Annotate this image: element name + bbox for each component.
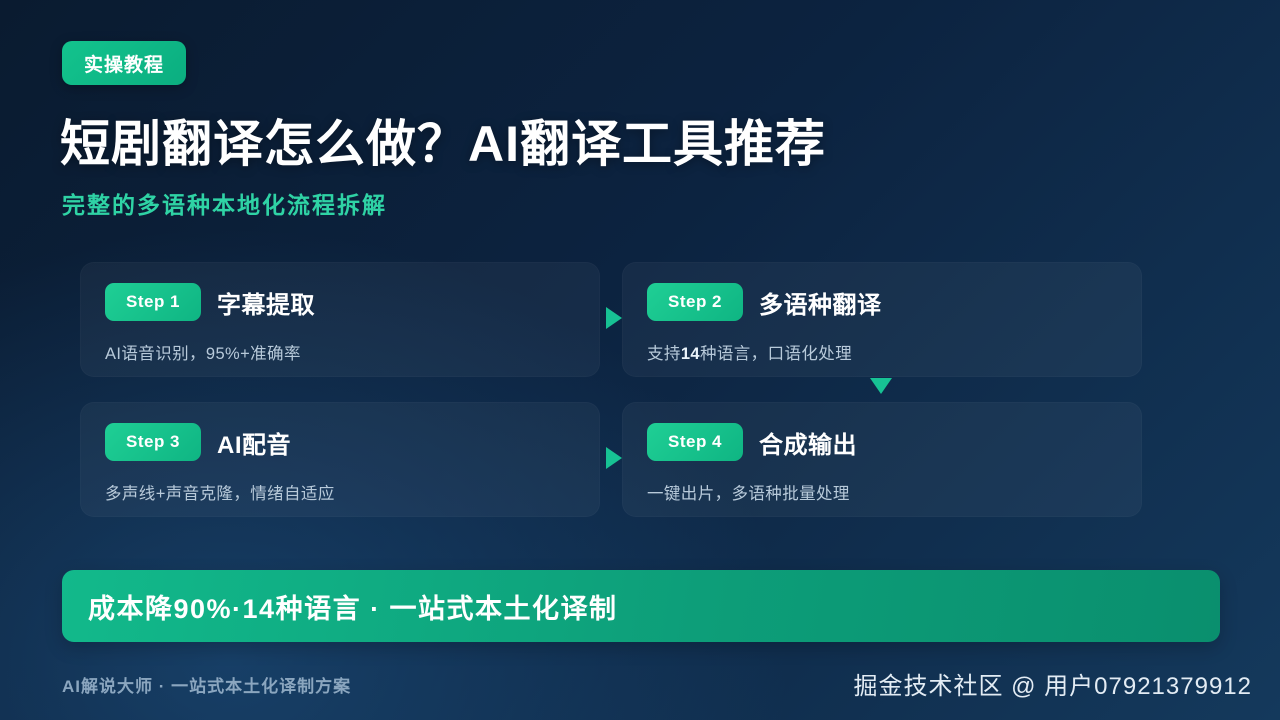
step-title-2: 多语种翻译: [759, 285, 882, 320]
summary-banner-text: 成本降90%·14种语言 · 一站式本土化译制: [88, 587, 618, 626]
step-chip-3: Step 3: [105, 423, 201, 461]
footer-attribution: 掘金技术社区 @ 用户07921379912: [853, 666, 1252, 701]
step-card-3-header: Step 3 AI配音: [105, 423, 575, 461]
step-desc-4: 一键出片，多语种批量处理: [647, 480, 1117, 504]
step-title-3: AI配音: [217, 425, 291, 460]
step-title-4: 合成输出: [759, 425, 857, 460]
step-card-4-header: Step 4 合成输出: [647, 423, 1117, 461]
tutorial-badge-label: 实操教程: [84, 50, 164, 77]
step-title-1: 字幕提取: [217, 285, 315, 320]
step-desc-2-text-after: 种语言，口语化处理: [700, 345, 852, 363]
step-desc-2-highlight: 14: [681, 345, 700, 363]
step-desc-4-text: 一键出片，多语种批量处理: [647, 485, 850, 503]
page-subtitle: 完整的多语种本地化流程拆解: [62, 186, 387, 220]
step-desc-1-text: AI语音识别，95%+准确率: [105, 345, 301, 363]
step-card-2-header: Step 2 多语种翻译: [647, 283, 1117, 321]
summary-banner: 成本降90%·14种语言 · 一站式本土化译制: [62, 570, 1220, 642]
page-title: 短剧翻译怎么做？AI翻译工具推荐: [60, 116, 826, 174]
tutorial-badge: 实操教程: [62, 41, 186, 85]
step-desc-3: 多声线+声音克隆，情绪自适应: [105, 480, 575, 504]
step-card-1: Step 1 字幕提取 AI语音识别，95%+准确率: [80, 262, 600, 377]
slide-canvas: 实操教程 短剧翻译怎么做？AI翻译工具推荐 完整的多语种本地化流程拆解 Step…: [0, 0, 1280, 720]
step-card-1-header: Step 1 字幕提取: [105, 283, 575, 321]
step-card-4: Step 4 合成输出 一键出片，多语种批量处理: [622, 402, 1142, 517]
footer-brand: AI解说大师 · 一站式本土化译制方案: [62, 672, 351, 697]
arrow-right-icon-step3-step4: [606, 447, 622, 469]
step-desc-3-text: 多声线+声音克隆，情绪自适应: [105, 485, 335, 503]
step-desc-2-text-before: 支持: [647, 345, 681, 363]
step-desc-2: 支持14种语言，口语化处理: [647, 340, 1117, 364]
step-chip-4: Step 4: [647, 423, 743, 461]
arrow-down-icon-step2-step4: [870, 378, 892, 394]
step-desc-1: AI语音识别，95%+准确率: [105, 340, 575, 364]
step-card-3: Step 3 AI配音 多声线+声音克隆，情绪自适应: [80, 402, 600, 517]
arrow-right-icon-step1-step2: [606, 307, 622, 329]
step-card-2: Step 2 多语种翻译 支持14种语言，口语化处理: [622, 262, 1142, 377]
step-chip-2: Step 2: [647, 283, 743, 321]
step-chip-1: Step 1: [105, 283, 201, 321]
